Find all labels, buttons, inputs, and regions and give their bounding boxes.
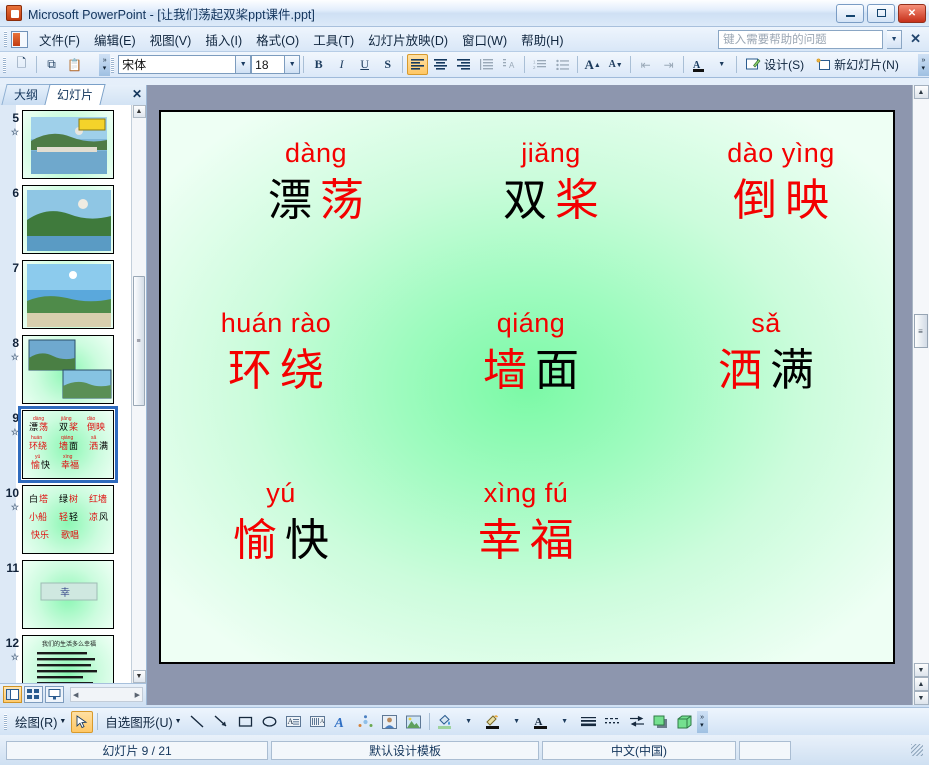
oval-button[interactable] (259, 711, 281, 733)
sort-icon: A (503, 59, 516, 70)
thumbnail-art: dàngjiǎngdàohuánqiángsǎyúxìng漂荡双桨倒映环绕墙面洒… (23, 411, 114, 479)
vocab-item[interactable]: dào yìng倒映 (681, 140, 881, 224)
svg-text:面: 面 (69, 441, 78, 452)
italic-button[interactable]: I (331, 54, 352, 75)
slide-edit-area[interactable]: dàng漂荡jiǎng双桨dào yìng倒映huán rào环绕qiáng墙面… (147, 85, 929, 705)
hanzi-char: 幸 (478, 518, 522, 564)
slide-sorter-view-button[interactable] (24, 686, 43, 703)
svg-text:快乐: 快乐 (31, 529, 49, 541)
slides-outline-pane: 大纲 幻灯片 ✕ 5☆678☆9☆dàngjiǎngdàohuánqiángsǎ… (0, 85, 147, 705)
wordart-icon: A (334, 715, 350, 729)
arrow-pointer-icon (76, 715, 89, 729)
slide-counter: 幻灯片 9 / 21 (6, 741, 268, 760)
svg-text:洒: 洒 (89, 440, 98, 452)
line-style-icon (581, 715, 596, 728)
svg-text:凉: 凉 (89, 511, 98, 523)
arrow-style-button[interactable] (626, 711, 648, 733)
hanzi-char: 福 (530, 518, 574, 564)
drawbar-grip[interactable] (4, 714, 7, 730)
svg-text:环绕: 环绕 (29, 440, 47, 452)
next-slide-button[interactable]: ▼ (914, 691, 929, 705)
tab-outline[interactable]: 大纲 (1, 84, 50, 105)
line-button[interactable] (187, 711, 209, 733)
vocab-item[interactable]: sǎ洒满 (666, 310, 866, 394)
divider (577, 56, 578, 73)
language-label[interactable]: 中文(中国) (542, 741, 736, 760)
window-title: Microsoft PowerPoint - [让我们荡起双桨ppt课件.ppt… (28, 4, 315, 23)
svg-text:幸福: 幸福 (61, 459, 79, 471)
svg-text:双: 双 (59, 422, 68, 433)
svg-text:幸: 幸 (60, 587, 70, 599)
animation-star-icon: ☆ (2, 351, 19, 363)
svg-text:漂: 漂 (29, 421, 38, 433)
hanzi-text: 墙面 (431, 348, 631, 394)
arrow-icon (214, 715, 229, 728)
svg-text:荡: 荡 (39, 421, 48, 433)
svg-text:红墙: 红墙 (89, 493, 107, 505)
svg-text:A: A (288, 717, 294, 726)
svg-text:绿: 绿 (59, 493, 68, 505)
numbered-list-icon: 12 (533, 59, 546, 70)
hanzi-text: 环绕 (176, 348, 376, 394)
slide-thumbnail-item[interactable]: 10☆白塔绿树红墙小船轻轻凉风快乐歌唱 (2, 485, 129, 554)
chevron-down-icon: ▼ (59, 718, 66, 725)
svg-text:满: 满 (99, 441, 108, 452)
thumbnail-slide[interactable]: 白塔绿树红墙小船轻轻凉风快乐歌唱 (22, 485, 114, 554)
divider (736, 56, 737, 73)
thumbnail-scrollbar[interactable]: ▲ ≡ ▼ (131, 105, 146, 683)
hanzi-char: 洒 (718, 348, 762, 394)
minimize-button[interactable] (836, 4, 864, 23)
pinyin-text: qiáng (431, 310, 631, 337)
svg-text:A: A (320, 719, 325, 725)
pinyin-text: xìng fú (426, 480, 626, 507)
divider (303, 56, 304, 73)
dash-style-icon (605, 715, 620, 728)
menu-item-view[interactable]: 视图(V) (143, 27, 199, 52)
title-bar: Microsoft PowerPoint - [让我们荡起双桨ppt课件.ppt… (0, 0, 929, 27)
current-slide[interactable]: dàng漂荡jiǎng双桨dào yìng倒映huán rào环绕qiáng墙面… (159, 110, 895, 664)
line-color-icon (485, 714, 500, 729)
svg-text:A: A (334, 716, 344, 729)
wordart-button[interactable]: A (331, 711, 353, 733)
slide-thumbnail-item[interactable]: 11幸 (2, 560, 129, 629)
hanzi-text: 幸福 (426, 518, 626, 564)
hanzi-char: 桨 (555, 178, 599, 224)
pinyin-text: dàng (216, 140, 416, 167)
menu-item-file[interactable]: 文件(F) (32, 27, 87, 52)
slide-scroll-thumb[interactable]: ≡ (914, 314, 928, 348)
maximize-button[interactable] (867, 4, 895, 23)
svg-text:轻: 轻 (59, 511, 68, 523)
svg-text:愉: 愉 (31, 459, 40, 471)
font-color-icon: A (692, 58, 706, 72)
hanzi-char: 满 (770, 348, 814, 394)
vocab-item[interactable]: jiǎng双桨 (451, 140, 651, 224)
line-spacing-icon (480, 59, 493, 70)
close-menubar-icon[interactable]: ✕ (906, 31, 925, 47)
divider (97, 713, 98, 730)
svg-text:小船: 小船 (29, 511, 47, 523)
hscroll-right-icon[interactable]: ▶ (133, 691, 142, 699)
menu-item-slideshow[interactable]: 幻灯片放映(D) (361, 27, 455, 52)
font-name-chevron-down-icon[interactable]: ▼ (236, 55, 251, 74)
status-bar: 幻灯片 9 / 21 默认设计模板 中文(中国) (0, 735, 929, 765)
svg-text:yú: yú (35, 454, 41, 460)
bulleted-list-button[interactable] (552, 54, 573, 75)
svg-text:dào: dào (87, 416, 96, 422)
toolbar-grip-2[interactable] (111, 57, 114, 73)
status-extra-cell (739, 741, 791, 760)
scroll-down-button[interactable]: ▼ (133, 670, 146, 683)
divider (36, 56, 37, 73)
tab-slides[interactable]: 幻灯片 (44, 84, 105, 105)
hanzi-text: 洒满 (666, 348, 866, 394)
decrease-indent-button[interactable]: ⇤ (635, 54, 656, 75)
slide-scroll-down-button[interactable]: ▼ (914, 663, 929, 677)
svg-text:xìng: xìng (63, 454, 73, 460)
divider (429, 713, 430, 730)
help-search-group: 键入需要帮助的问题 ▼ ✕ (718, 30, 929, 49)
toolbar-grip-1[interactable] (3, 57, 6, 73)
insert-picture-button[interactable] (403, 711, 425, 733)
autoshapes-label: 自选图形(U) (105, 712, 172, 731)
menu-item-tools[interactable]: 工具(T) (306, 27, 361, 52)
bulleted-list-icon (556, 59, 569, 70)
svg-text:dàng: dàng (33, 416, 44, 422)
slide-thumbnail-item[interactable]: 5☆ (2, 110, 129, 179)
hanzi-char: 墙 (483, 348, 527, 394)
slide-thumbnail-list[interactable]: 5☆678☆9☆dàngjiǎngdàohuánqiángsǎyúxìng漂荡双… (0, 105, 146, 683)
3d-style-button[interactable] (674, 711, 696, 733)
slide-scroll-up-button[interactable]: ▲ (914, 85, 929, 99)
copy-icon[interactable]: ⧉ (41, 54, 62, 75)
thumbnail-slide[interactable]: dàngjiǎngdàohuánqiángsǎyúxìng漂荡双桨倒映环绕墙面洒… (22, 410, 114, 479)
svg-text:1: 1 (533, 60, 536, 65)
thumbnail-art (23, 261, 114, 329)
drawing-font-color-chevron-down-icon[interactable]: ▼ (554, 711, 576, 733)
vocab-item[interactable]: huán rào环绕 (176, 310, 376, 394)
dash-style-button[interactable] (602, 711, 624, 733)
fill-color-icon (437, 714, 452, 729)
drawing-toolbar: 绘图(R)▼ 自选图形(U)▼ A A A (0, 707, 929, 735)
svg-text:2: 2 (533, 65, 536, 70)
svg-text:塔: 塔 (39, 493, 48, 505)
pinyin-text: huán rào (176, 310, 376, 337)
font-color-button[interactable]: A (688, 54, 709, 75)
font-color-icon: A (533, 714, 548, 729)
thumbnail-art: 幸 (23, 561, 114, 629)
3d-style-icon (677, 715, 692, 729)
arrow-button[interactable] (211, 711, 233, 733)
drawing-font-color-button[interactable]: A (530, 711, 552, 733)
menu-bar: 文件(F) 编辑(E) 视图(V) 插入(I) 格式(O) 工具(T) 幻灯片放… (0, 27, 929, 52)
thumbnail-art: 我们的生活多么幸福 (23, 636, 114, 683)
bold-button[interactable]: B (308, 54, 329, 75)
thumbnail-number: 10☆ (2, 485, 19, 513)
chevron-down-icon: ▼ (175, 718, 182, 725)
hanzi-text: 倒映 (681, 178, 881, 224)
view-buttons-group: ◀ ▶ (0, 683, 146, 705)
tab-outline-label: 大纲 (14, 86, 38, 103)
align-center-icon (434, 59, 447, 70)
chevron-down-icon[interactable]: ▼ (887, 30, 902, 49)
hanzi-text: 愉快 (181, 518, 381, 564)
thumbnail-scroll-track[interactable]: ≡ (132, 118, 147, 670)
vertical-textbox-icon: A (310, 715, 325, 728)
thumbnail-number: 9☆ (2, 410, 19, 438)
align-center-button[interactable] (430, 54, 451, 75)
thumbnail-art (23, 336, 114, 404)
thumbnail-number: 6 (2, 185, 19, 199)
svg-text:轻: 轻 (69, 511, 78, 523)
thumbnail-slide[interactable] (22, 185, 114, 254)
thumbnail-number: 7 (2, 260, 19, 274)
font-size-input[interactable]: 18 (251, 55, 285, 74)
slide-thumbnail-item[interactable]: 7 (2, 260, 129, 329)
hanzi-char: 面 (535, 348, 579, 394)
shrink-font-button[interactable]: A▼ (605, 54, 626, 75)
thumbnail-slide[interactable]: 我们的生活多么幸福 (22, 635, 114, 683)
line-color-button[interactable] (482, 711, 504, 733)
minimize-icon (846, 15, 855, 17)
pinyin-text: jiǎng (451, 140, 651, 167)
menu-item-insert[interactable]: 插入(I) (198, 27, 249, 52)
text-shadow-button[interactable]: S (377, 54, 398, 75)
vertical-textbox-button[interactable]: A (307, 711, 329, 733)
align-right-icon (457, 59, 470, 70)
thumbnail-number: 5☆ (2, 110, 19, 138)
slide-show-view-button[interactable] (45, 686, 64, 703)
line-style-button[interactable] (578, 711, 600, 733)
design-button-label: 设计(S) (764, 56, 804, 73)
thumbnail-slide[interactable]: 幸 (22, 560, 114, 629)
pinyin-text: yú (181, 480, 381, 507)
previous-slide-button[interactable]: ▲ (914, 677, 929, 691)
powerpoint-app-icon (6, 5, 22, 21)
powerpoint-window: Microsoft PowerPoint - [让我们荡起双桨ppt课件.ppt… (0, 0, 929, 765)
animation-star-icon: ☆ (2, 501, 19, 513)
slide-sorter-icon (27, 689, 40, 700)
diagram-button[interactable] (355, 711, 377, 733)
fill-color-chevron-down-icon[interactable]: ▼ (458, 711, 480, 733)
hanzi-text: 双桨 (451, 178, 651, 224)
align-left-button[interactable] (407, 54, 428, 75)
menu-item-format[interactable]: 格式(O) (249, 27, 306, 52)
hanzi-text: 漂荡 (216, 178, 416, 224)
diagram-icon (358, 715, 373, 729)
insert-clipart-button[interactable] (379, 711, 401, 733)
hanzi-char: 双 (503, 178, 547, 224)
grow-font-button[interactable]: A▲ (582, 54, 603, 75)
arrow-style-icon (629, 715, 645, 728)
svg-text:墙: 墙 (59, 440, 68, 452)
select-objects-button[interactable] (71, 711, 93, 733)
animation-star-icon: ☆ (2, 651, 19, 663)
line-icon (190, 715, 205, 728)
divider (683, 56, 684, 73)
thumbnail-art (23, 186, 114, 254)
shadow-style-button[interactable] (650, 711, 672, 733)
hanzi-char: 愉 (233, 518, 277, 564)
normal-view-button[interactable] (3, 686, 22, 703)
formatting-toolbar: 🗋 ⧉ 📋 »▾ 宋体 ▼ 18 ▼ B I U S A 12 (0, 52, 929, 78)
new-slide-button-label: 新幻灯片(N) (834, 56, 899, 73)
hanzi-char: 绕 (280, 348, 324, 394)
thumbnail-art (23, 111, 114, 179)
thumbnail-number: 8☆ (2, 335, 19, 363)
shadow-style-icon (653, 715, 668, 729)
svg-text:jiǎng: jiǎng (60, 416, 72, 422)
scroll-up-button[interactable]: ▲ (133, 105, 146, 118)
new-slide-button[interactable]: 新幻灯片(N) (810, 53, 905, 76)
font-color-chevron-down-icon[interactable]: ▼ (711, 54, 732, 75)
rectangle-icon (238, 715, 253, 728)
font-name-input[interactable]: 宋体 (118, 55, 236, 74)
thumbnail-hscrollbar[interactable]: ◀ ▶ (70, 687, 143, 702)
thumbnail-number: 11 (2, 560, 19, 574)
slide-vertical-scrollbar[interactable]: ▲ ≡ ▼ ▲ ▼ (912, 85, 929, 705)
workspace: 大纲 幻灯片 ✕ 5☆678☆9☆dàngjiǎngdàohuánqiángsǎ… (0, 85, 929, 705)
hanzi-char: 荡 (320, 178, 364, 224)
help-search-input[interactable]: 键入需要帮助的问题 (718, 30, 883, 49)
close-button[interactable]: ✕ (898, 4, 926, 23)
oval-icon (262, 715, 277, 728)
window-controls: ✕ (836, 4, 926, 23)
increase-indent-button[interactable]: ⇥ (658, 54, 679, 75)
divider (630, 56, 631, 73)
slide-thumbnail-item[interactable]: 8☆ (2, 335, 129, 404)
divider (524, 56, 525, 73)
textbox-button[interactable]: A (283, 711, 305, 733)
slide-show-icon (48, 689, 61, 700)
animation-star-icon: ☆ (2, 426, 19, 438)
underline-button[interactable]: U (354, 54, 375, 75)
svg-text:我们的生活多么幸福: 我们的生活多么幸福 (42, 640, 96, 648)
drawing-toolbar-overflow[interactable]: »▾ (697, 711, 708, 733)
svg-text:huán: huán (31, 435, 42, 441)
align-left-icon (411, 59, 424, 70)
menu-item-window[interactable]: 窗口(W) (455, 27, 514, 52)
line-spacing-button[interactable] (476, 54, 497, 75)
normal-view-icon (6, 689, 19, 700)
picture-icon (406, 715, 421, 729)
slide-scroll-track[interactable]: ≡ (913, 99, 929, 663)
hanzi-char: 漂 (268, 178, 312, 224)
vocab-item[interactable]: yú愉快 (181, 480, 381, 564)
vocab-item[interactable]: xìng fú幸福 (426, 480, 626, 564)
pane-tabs: 大纲 幻灯片 ✕ (0, 85, 146, 105)
thumbnail-art: 白塔绿树红墙小船轻轻凉风快乐歌唱 (23, 486, 114, 554)
tab-slides-label: 幻灯片 (57, 86, 93, 103)
rectangle-button[interactable] (235, 711, 257, 733)
svg-text:桨: 桨 (69, 421, 78, 433)
svg-text:快: 快 (41, 459, 50, 471)
textbox-icon: A (286, 715, 301, 728)
vocab-item[interactable]: qiáng墙面 (431, 310, 631, 394)
animation-star-icon: ☆ (2, 126, 19, 138)
toolbar-overflow-1[interactable]: »▾ (99, 54, 110, 76)
hanzi-char: 倒 (733, 178, 777, 224)
thumbnail-number: 12☆ (2, 635, 19, 663)
svg-text:sǎ: sǎ (91, 435, 97, 441)
svg-text:qiáng: qiáng (61, 435, 73, 441)
resize-grip[interactable] (911, 744, 923, 756)
svg-text:倒映: 倒映 (87, 421, 105, 433)
draw-menu-label: 绘图(R) (15, 712, 57, 731)
design-icon (746, 58, 761, 71)
align-right-button[interactable] (453, 54, 474, 75)
toolbar-overflow-2[interactable]: »▾ (918, 54, 929, 76)
menu-item-help[interactable]: 帮助(H) (514, 27, 570, 52)
slide-thumbnail-item[interactable]: 12☆我们的生活多么幸福 (2, 635, 129, 683)
thumbnail-slide[interactable] (22, 335, 114, 404)
hanzi-char: 环 (228, 348, 272, 394)
hscroll-left-icon[interactable]: ◀ (71, 691, 80, 699)
design-button[interactable]: 设计(S) (740, 53, 810, 76)
new-slide-icon (816, 58, 831, 71)
draw-menu-button[interactable]: 绘图(R)▼ (11, 710, 70, 733)
maximize-icon (877, 9, 886, 17)
sort-button[interactable]: A (499, 54, 520, 75)
document-icon (11, 31, 28, 48)
pinyin-text: dào yìng (681, 140, 881, 167)
menu-grip[interactable] (4, 31, 7, 47)
font-size-chevron-down-icon[interactable]: ▼ (285, 55, 300, 74)
svg-text:风: 风 (99, 512, 108, 523)
new-document-icon[interactable]: 🗋 (11, 54, 32, 75)
design-template-label[interactable]: 默认设计模板 (271, 741, 539, 760)
numbered-list-button[interactable]: 12 (529, 54, 550, 75)
close-pane-icon[interactable]: ✕ (132, 87, 142, 101)
svg-text:白: 白 (29, 493, 38, 505)
svg-text:歌唱: 歌唱 (61, 529, 79, 541)
fill-color-button[interactable] (434, 711, 456, 733)
svg-text:树: 树 (69, 493, 78, 505)
thumbnail-slide[interactable] (22, 110, 114, 179)
slide-thumbnail-item[interactable]: 6 (2, 185, 129, 254)
slide-thumbnail-item[interactable]: 9☆dàngjiǎngdàohuánqiángsǎyúxìng漂荡双桨倒映环绕墙… (2, 410, 129, 479)
vocab-item[interactable]: dàng漂荡 (216, 140, 416, 224)
hanzi-char: 快 (285, 518, 329, 564)
line-color-chevron-down-icon[interactable]: ▼ (506, 711, 528, 733)
pinyin-text: sǎ (666, 310, 866, 337)
autoshapes-button[interactable]: 自选图形(U)▼ (101, 710, 185, 733)
thumbnail-scroll-thumb[interactable]: ≡ (133, 276, 145, 406)
hanzi-char: 映 (785, 178, 829, 224)
clipart-icon (382, 715, 397, 729)
thumbnail-slide[interactable] (22, 260, 114, 329)
svg-text:A: A (509, 61, 515, 70)
divider (402, 56, 403, 73)
menu-item-edit[interactable]: 编辑(E) (87, 27, 143, 52)
paste-icon[interactable]: 📋 (64, 54, 85, 75)
